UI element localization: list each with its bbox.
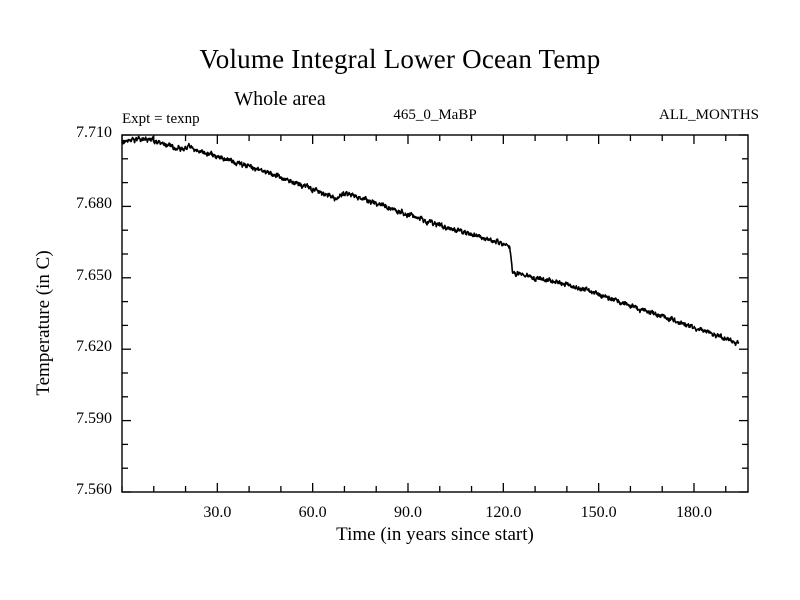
y-axis-title: Temperature (in C) bbox=[33, 173, 55, 473]
x-tick-label: 180.0 bbox=[659, 504, 729, 522]
x-tick-label: 150.0 bbox=[564, 504, 634, 522]
x-axis-title: Time (in years since start) bbox=[122, 524, 748, 546]
chart-figure: Volume Integral Lower Ocean Temp Whole a… bbox=[0, 0, 800, 600]
x-tick-label: 120.0 bbox=[468, 504, 538, 522]
x-axis-tick-labels: 30.060.090.0120.0150.0180.0 bbox=[0, 0, 800, 600]
x-tick-label: 60.0 bbox=[278, 504, 348, 522]
x-tick-label: 30.0 bbox=[182, 504, 252, 522]
x-tick-label: 90.0 bbox=[373, 504, 443, 522]
